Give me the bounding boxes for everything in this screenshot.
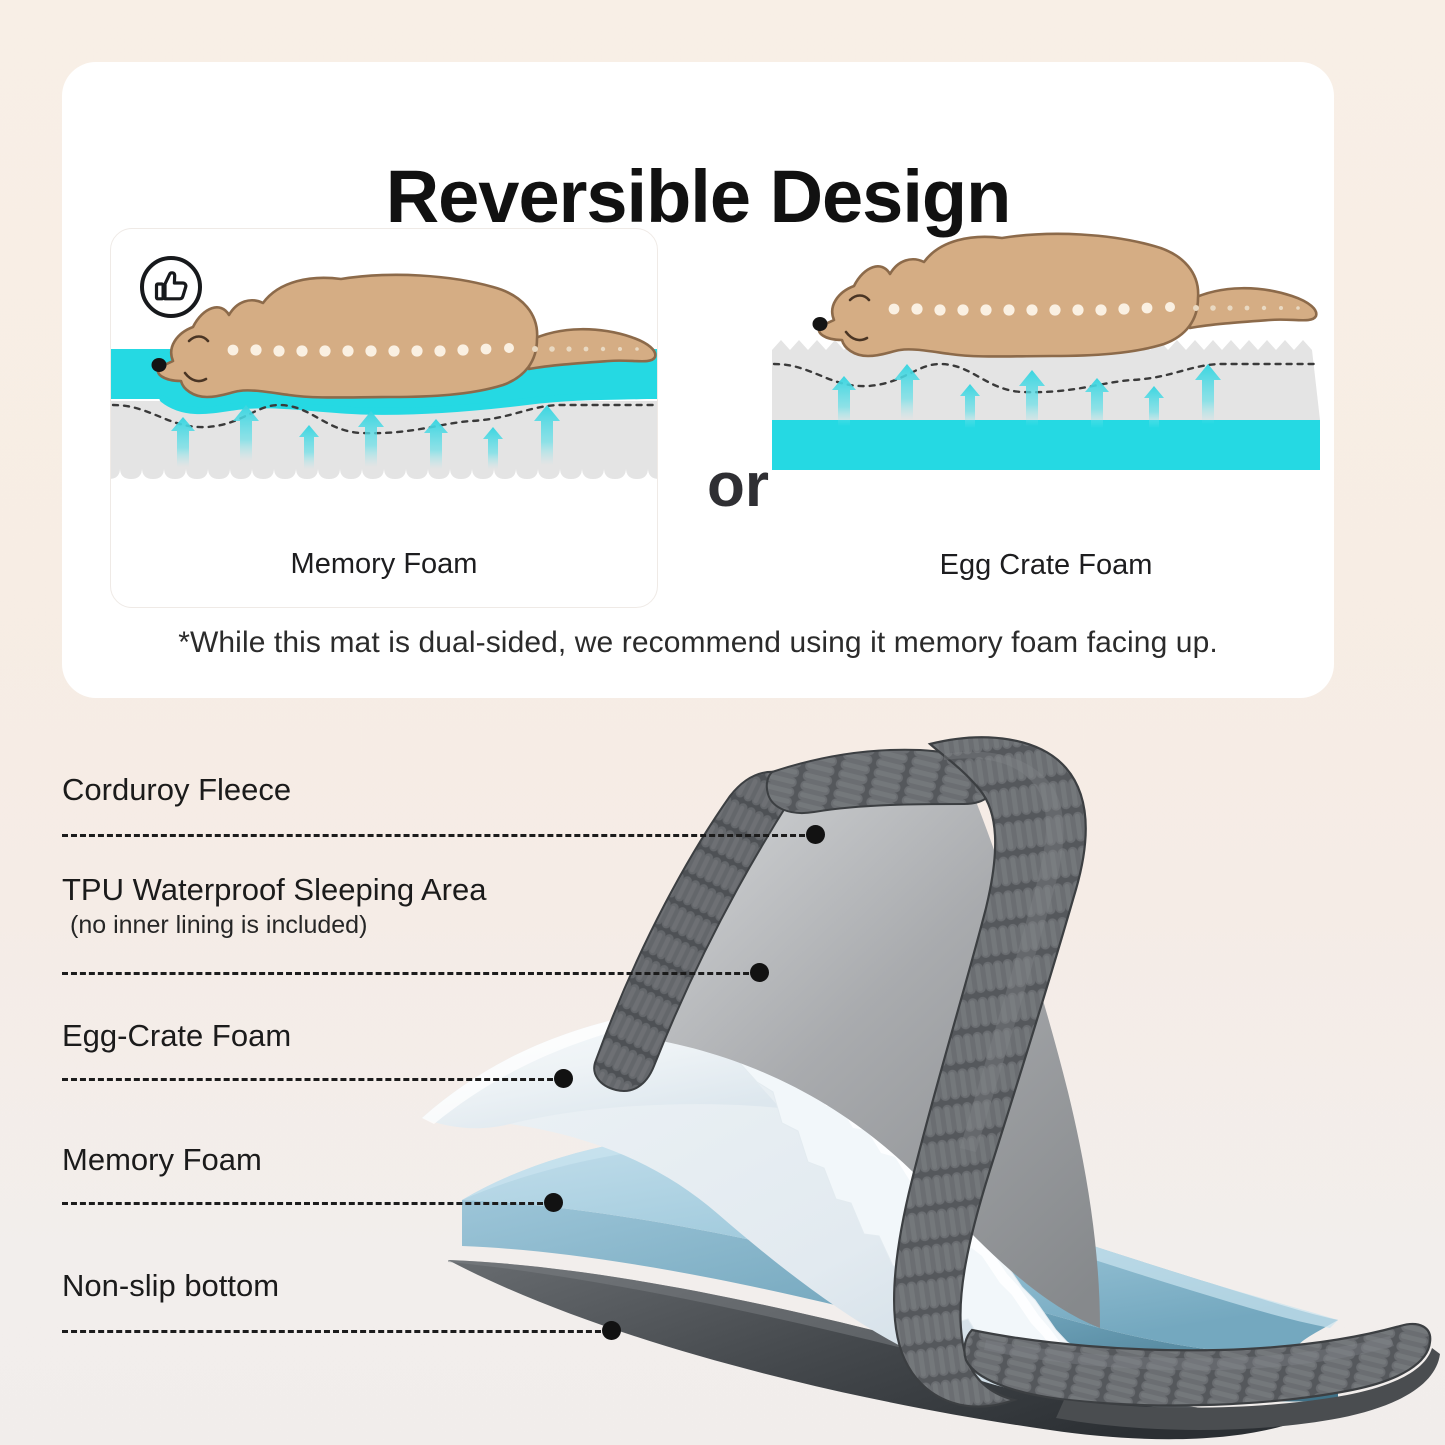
memory-foam-illustration xyxy=(111,229,658,529)
leader-line xyxy=(62,834,814,837)
callout-title: Memory Foam xyxy=(62,1142,262,1179)
leader-line xyxy=(62,1202,552,1205)
callout-title: Non-slip bottom xyxy=(62,1268,279,1305)
egg-crate-illustration xyxy=(772,228,1320,528)
callout-subtitle: (no inner lining is included) xyxy=(62,909,486,942)
callout-title: Corduroy Fleece xyxy=(62,772,291,809)
callout-memory-foam: Memory Foam xyxy=(62,1142,262,1179)
page-title: Reversible Design xyxy=(62,154,1334,239)
panel-label-memory-foam: Memory Foam xyxy=(111,548,657,581)
leader-dot xyxy=(806,825,825,844)
leader-line xyxy=(62,1078,562,1081)
panel-memory-foam: Memory Foam xyxy=(110,228,658,608)
exploded-layers-diagram: Corduroy Fleece TPU Waterproof Sleeping … xyxy=(0,700,1445,1445)
leader-dot xyxy=(544,1193,563,1212)
leader-dot xyxy=(750,963,769,982)
callout-corduroy-fleece: Corduroy Fleece xyxy=(62,772,291,809)
leader-dot xyxy=(554,1069,573,1088)
panel-egg-crate-foam: Egg Crate Foam xyxy=(772,228,1320,608)
dual-sided-footnote: *While this mat is dual-sided, we recomm… xyxy=(62,626,1334,660)
leader-dot xyxy=(602,1321,621,1340)
panel-label-egg-crate-foam: Egg Crate Foam xyxy=(772,549,1320,582)
callout-non-slip-bottom: Non-slip bottom xyxy=(62,1268,279,1305)
dog-illustration xyxy=(813,234,1317,357)
reversible-design-card: Reversible Design xyxy=(62,62,1334,698)
leader-line xyxy=(62,1330,610,1333)
callout-title: TPU Waterproof Sleeping Area xyxy=(62,872,486,909)
callout-tpu-sleeping-area: TPU Waterproof Sleeping Area (no inner l… xyxy=(62,872,486,941)
callout-labels: Corduroy Fleece TPU Waterproof Sleeping … xyxy=(0,700,1445,1445)
callout-egg-crate-foam: Egg-Crate Foam xyxy=(62,1018,291,1055)
callout-title: Egg-Crate Foam xyxy=(62,1018,291,1055)
leader-line xyxy=(62,972,758,975)
